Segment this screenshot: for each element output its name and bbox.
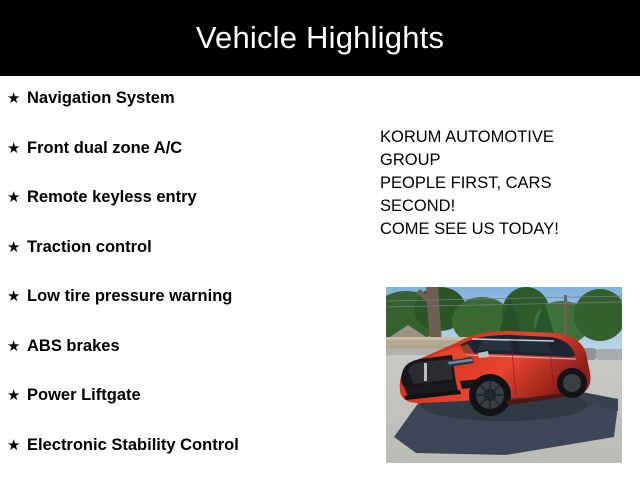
feature-label: Electronic Stability Control: [27, 435, 239, 455]
vehicle-photo: [386, 287, 622, 463]
dealer-blurb-line: SECOND!: [380, 195, 595, 218]
list-item: ★ ABS brakes: [0, 336, 360, 386]
feature-label: Navigation System: [27, 88, 175, 108]
star-icon: ★: [7, 336, 27, 356]
vehicle-photo-graphic: [386, 287, 622, 463]
list-item: ★ Traction control: [0, 237, 360, 287]
list-item: ★ Electronic Stability Control: [0, 435, 360, 484]
feature-label: Low tire pressure warning: [27, 286, 232, 306]
feature-label: ABS brakes: [27, 336, 120, 356]
list-item: ★ Front dual zone A/C: [0, 138, 360, 188]
list-item: ★ Low tire pressure warning: [0, 286, 360, 336]
star-icon: ★: [7, 286, 27, 306]
star-icon: ★: [7, 138, 27, 158]
dealer-blurb-line: PEOPLE FIRST, CARS: [380, 172, 595, 195]
star-icon: ★: [7, 237, 27, 257]
dealer-blurb-line: COME SEE US TODAY!: [380, 218, 595, 241]
feature-label: Remote keyless entry: [27, 187, 197, 207]
list-item: ★ Remote keyless entry: [0, 187, 360, 237]
header-bar: Vehicle Highlights: [0, 0, 640, 76]
feature-label: Traction control: [27, 237, 152, 257]
list-item: ★ Navigation System: [0, 88, 360, 138]
star-icon: ★: [7, 385, 27, 405]
list-item: ★ Power Liftgate: [0, 385, 360, 435]
page-title: Vehicle Highlights: [0, 0, 640, 76]
feature-label: Front dual zone A/C: [27, 138, 182, 158]
star-icon: ★: [7, 435, 27, 455]
star-icon: ★: [7, 88, 27, 108]
feature-label: Power Liftgate: [27, 385, 141, 405]
dealer-blurb-line: KORUM AUTOMOTIVE: [380, 126, 595, 149]
star-icon: ★: [7, 187, 27, 207]
feature-list: ★ Navigation System ★ Front dual zone A/…: [0, 88, 360, 484]
dealer-blurb-line: GROUP: [380, 149, 595, 172]
slide-canvas: Vehicle Highlights ★ Navigation System ★…: [0, 0, 640, 480]
dealer-blurb: KORUM AUTOMOTIVE GROUP PEOPLE FIRST, CAR…: [380, 126, 595, 241]
